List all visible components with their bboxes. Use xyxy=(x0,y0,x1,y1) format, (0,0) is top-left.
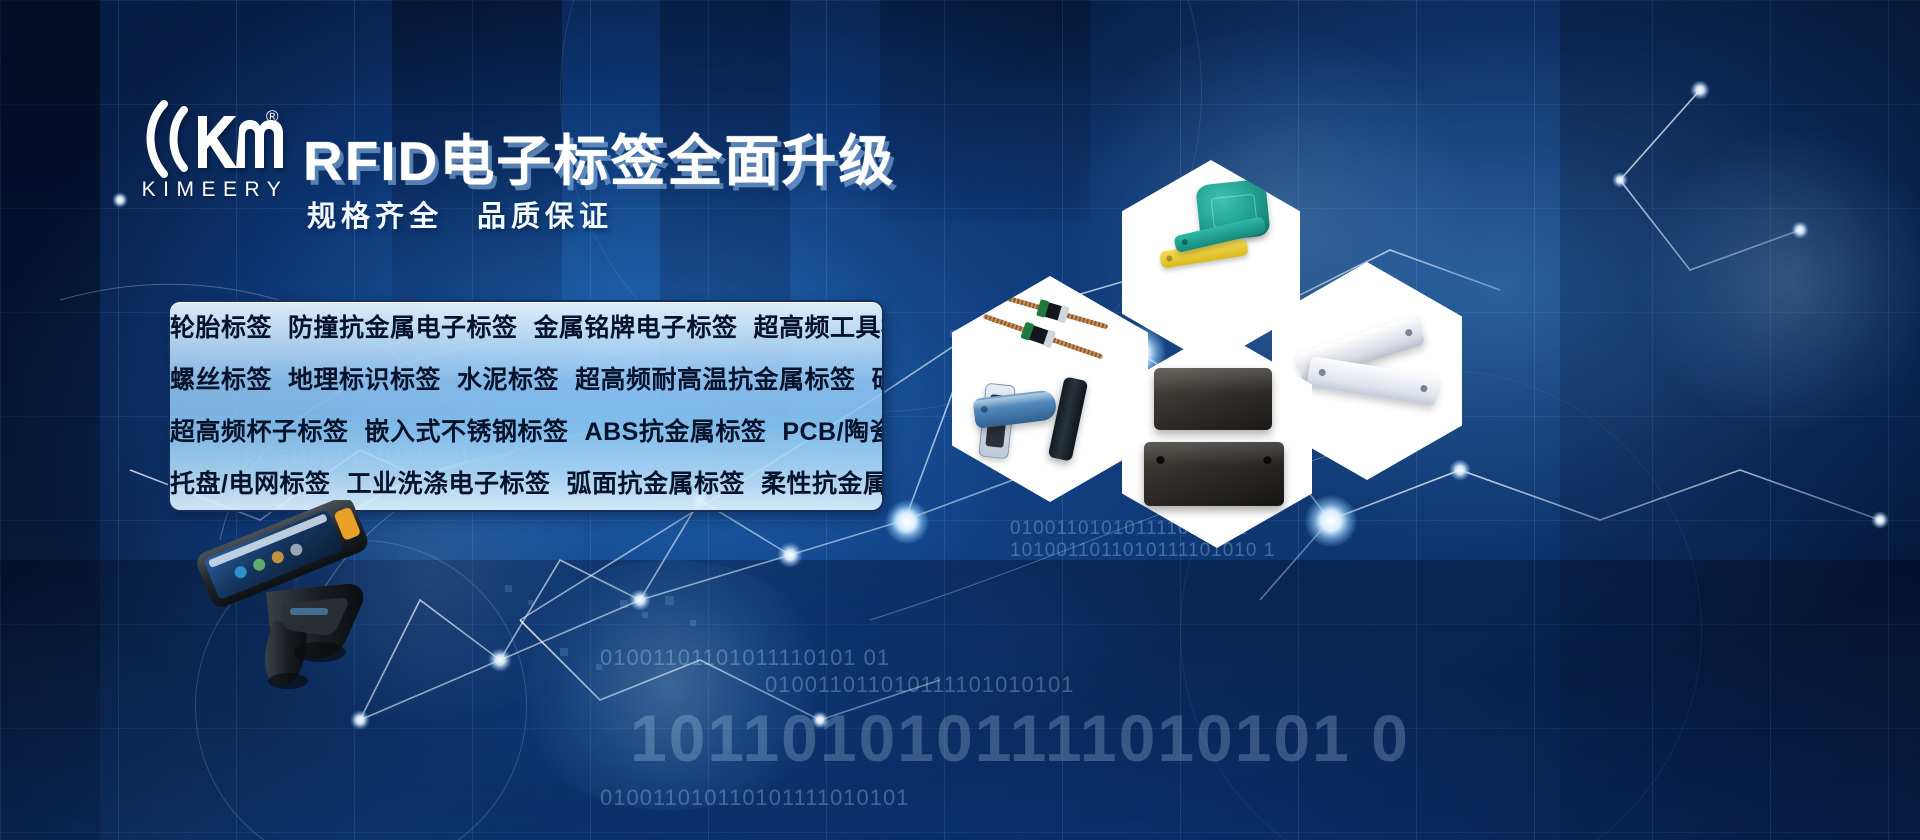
hex-cell-left xyxy=(952,276,1148,502)
product-item: 超高频杯子标签 xyxy=(170,418,349,446)
product-item: 螺丝标签 xyxy=(170,366,272,394)
dark-anti-metal-tag-small xyxy=(1154,368,1272,430)
product-item: ABS抗金属标签 xyxy=(585,418,767,446)
product-item: 嵌入式不锈钢标签 xyxy=(365,418,569,446)
black-ceramic-bar-tag xyxy=(1048,376,1089,461)
product-list-row: 超高频杯子标签嵌入式不锈钢标签ABS抗金属标签PCB/陶瓷电子标签 xyxy=(170,406,882,458)
product-list-row: 螺丝标签地理标识标签水泥标签超高频耐高温抗金属标签硅胶腕带 xyxy=(170,354,882,406)
bg-panel-left xyxy=(0,0,100,840)
bg-panel-right xyxy=(1560,0,1920,840)
product-item: 柔性抗金属标签 xyxy=(761,470,884,498)
handheld-reader-graphic xyxy=(170,500,400,690)
headline-text: RFID电子标签全面升级 xyxy=(303,116,895,196)
product-item: 超高频工具标签 xyxy=(754,314,884,342)
product-list-box: 轮胎标签防撞抗金属电子标签金属铭牌电子标签超高频工具标签 螺丝标签地理标识标签水… xyxy=(168,300,884,512)
product-item: 超高频耐高温抗金属标签 xyxy=(575,366,856,394)
brand-wordmark: KIMEERY xyxy=(140,178,290,202)
product-item: 托盘/电网标签 xyxy=(170,470,330,498)
white-flexible-anti-metal-tag xyxy=(1306,356,1439,406)
subheadline-right: 品质保证 xyxy=(477,201,613,233)
binary-decor-4: 010011011010111101010101 xyxy=(765,672,1074,698)
product-item: 防撞抗金属电子标签 xyxy=(288,314,518,342)
product-item: 轮胎标签 xyxy=(170,314,272,342)
bg-blob-1 xyxy=(500,560,840,810)
product-item: PCB/陶瓷电子标签 xyxy=(782,418,884,446)
product-item: 弧面抗金属标签 xyxy=(566,470,745,498)
binary-decor-3: 01001101101011110101 01 xyxy=(600,645,890,671)
glow-node-3 xyxy=(885,500,929,544)
glow-node-2 xyxy=(1305,495,1357,547)
subheadline: 规格齐全品质保证 xyxy=(307,193,613,235)
bg-blob-3 xyxy=(1640,130,1920,430)
product-item: 地理标识标签 xyxy=(288,366,441,394)
product-list-row: 轮胎标签防撞抗金属电子标签金属铭牌电子标签超高频工具标签 xyxy=(170,302,882,354)
product-item: 水泥标签 xyxy=(457,366,559,394)
dark-anti-metal-tag-large xyxy=(1144,442,1284,506)
uhf-handheld-reader xyxy=(170,500,390,680)
kimeery-wave-logo-icon: ® xyxy=(140,96,290,182)
registered-mark-text: ® xyxy=(266,107,279,126)
rfid-banner: 010011010101111010101 101001101101011110… xyxy=(0,0,1920,840)
brand-logo: ® KIMEERY xyxy=(140,96,290,206)
bg-panel-c xyxy=(880,0,1090,220)
subheadline-left: 规格齐全 xyxy=(307,201,443,233)
product-item: 金属铭牌电子标签 xyxy=(534,314,738,342)
binary-decor-2: 1010011011010111101010 1 xyxy=(1010,540,1275,562)
binary-decor-5: 010011010110101111010101 xyxy=(600,785,909,811)
product-item: 硅胶腕带 xyxy=(872,366,884,394)
binary-decor-big: 1011010101111010101 0 xyxy=(630,700,1410,776)
product-item: 工业洗涤电子标签 xyxy=(346,470,550,498)
